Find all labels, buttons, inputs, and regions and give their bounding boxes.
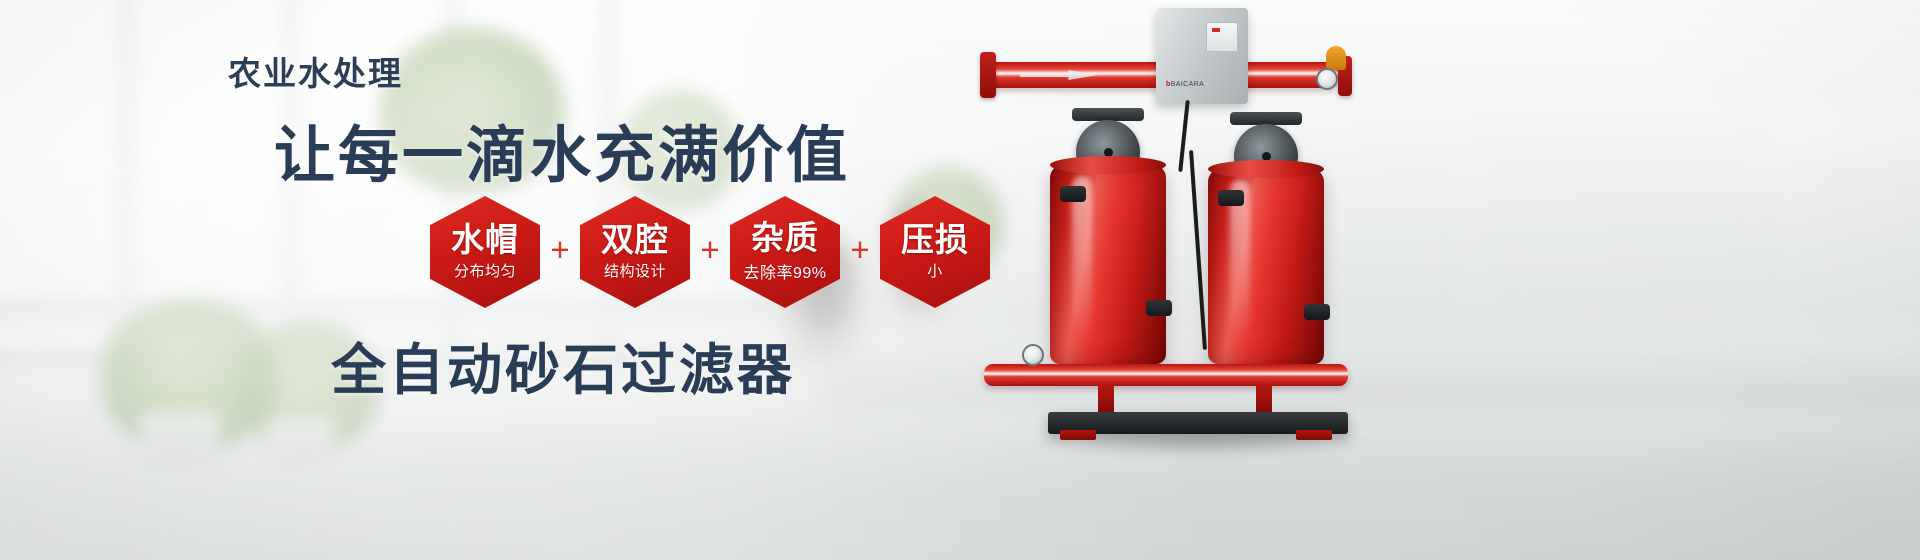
feature-badge-dual-chamber: 双腔 结构设计 (580, 196, 690, 308)
banner-eyebrow: 农业水处理 (228, 47, 403, 95)
hexagon-shape: 水帽 分布均匀 (430, 196, 540, 308)
tank-side-port-right (1218, 190, 1244, 206)
product-photo-sand-filter: bBAICARA (960, 0, 1520, 560)
badge-subtitle: 结构设计 (604, 260, 666, 281)
badge-title: 压损 (901, 223, 969, 258)
control-cable (1178, 100, 1190, 172)
tank-drain-right (1304, 304, 1330, 320)
hexagon-shape: 双腔 结构设计 (580, 196, 690, 308)
badge-separator-plus-icon: + (690, 233, 730, 272)
badge-subtitle: 小 (927, 260, 943, 281)
control-cable-secondary (1189, 150, 1207, 350)
promo-banner: 农业水处理 让每一滴水充满价值 水帽 分布均匀 + 双腔 结构设计 + 杂质 (0, 0, 1920, 560)
badge-title: 水帽 (451, 223, 519, 258)
feature-badge-impurity: 杂质 去除率99% (730, 196, 840, 308)
control-box-brand-name: BAICARA (1171, 81, 1205, 88)
pressure-gauge-bottom (1022, 344, 1044, 366)
control-box-indicator (1212, 28, 1220, 32)
control-box-screen (1206, 22, 1238, 52)
banner-headline: 让每一滴水充满价值 (274, 105, 850, 194)
base-foot-right (1296, 430, 1332, 440)
hexagon-shape: 杂质 去除率99% (730, 196, 840, 308)
tank-drain-left (1146, 300, 1172, 316)
pipe-flange-left (980, 52, 996, 98)
badge-title: 双腔 (601, 223, 669, 258)
control-box: bBAICARA (1156, 8, 1248, 104)
product-name-title: 全自动砂石过滤器 (331, 325, 795, 405)
feature-badge-row: 水帽 分布均匀 + 双腔 结构设计 + 杂质 去除率99% + (430, 196, 990, 308)
badge-title: 杂质 (751, 221, 819, 256)
badge-subtitle: 去除率99% (743, 259, 826, 283)
banner-copy: 农业水处理 让每一滴水充满价值 水帽 分布均匀 + 双腔 结构设计 + 杂质 (0, 0, 1040, 560)
pressure-gauge-top (1316, 68, 1338, 90)
badge-separator-plus-icon: + (840, 233, 880, 272)
control-box-brand-label: bBAICARA (1166, 81, 1204, 88)
outlet-manifold-pipe (984, 364, 1348, 386)
badge-separator-plus-icon: + (540, 233, 580, 272)
tank-side-port-left (1060, 186, 1086, 202)
base-foot-left (1060, 430, 1096, 440)
badge-subtitle: 分布均匀 (454, 260, 516, 281)
relief-valve (1326, 46, 1346, 70)
feature-badge-water-cap: 水帽 分布均匀 (430, 196, 540, 308)
